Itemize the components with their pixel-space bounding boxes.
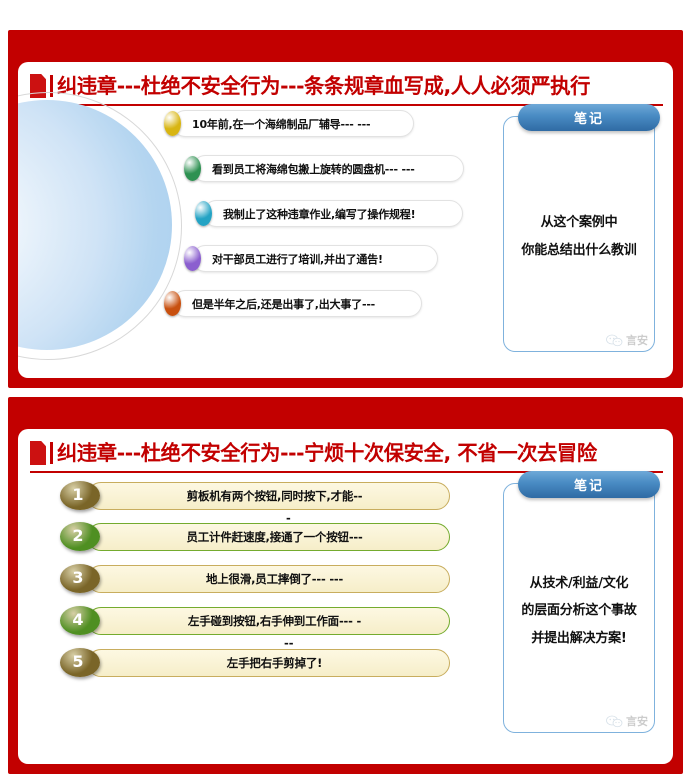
- step-number-badge: 3: [60, 564, 100, 593]
- list-item-label: 对干部员工进行了培训,并出了通告!: [212, 251, 383, 267]
- list-item[interactable]: 5 左手把右手剪掉了!: [60, 648, 450, 677]
- slide-1-body: 10年前,在一个海绵制品厂辅导--- --- 看到员工将海绵包搬上旋转的圆盘机-…: [18, 106, 673, 378]
- slide-1-title: 纠违章---杜绝不安全行为---条条规章血写成,人人必须严执行: [57, 76, 657, 97]
- step-number-badge: 2: [60, 522, 100, 551]
- slide-1-content-card: 纠违章---杜绝不安全行为---条条规章血写成,人人必须严执行 10年前,在一个…: [18, 62, 673, 378]
- wechat-icon: [606, 334, 623, 347]
- step-bar: 左手碰到按钮,右手伸到工作面--- -: [87, 607, 450, 635]
- step-bar: 左手把右手剪掉了!: [87, 649, 450, 677]
- list-item-label: 我制止了这种违章作业,编写了操作规程!: [223, 206, 415, 222]
- bullet-pill: 看到员工将海绵包搬上旋转的圆盘机--- ---: [192, 155, 464, 182]
- step-bar: 员工计件赶速度,接通了一个按钮---: [87, 523, 450, 551]
- notes-line: 你能总结出什么教训: [521, 244, 636, 258]
- notes-panel-header: 笔记: [518, 104, 660, 131]
- notes-line: 的层面分析这个事故: [521, 604, 636, 618]
- notes-panel: 笔记 从这个案例中 你能总结出什么教训: [503, 116, 655, 352]
- step-number-label: 1: [72, 485, 83, 504]
- step-number-label: 5: [72, 652, 83, 671]
- list-item[interactable]: 1 剪板机有两个按钮,同时按下,才能--: [60, 481, 450, 510]
- list-item[interactable]: 4 左手碰到按钮,右手伸到工作面--- -: [60, 606, 450, 635]
- notes-panel-body: 从技术/利益/文化 的层面分析这个事故 并提出解决方案!: [510, 512, 648, 710]
- list-item-label: 员工计件赶速度,接通了一个按钮---: [186, 529, 362, 545]
- notes-line: 并提出解决方案!: [531, 632, 626, 646]
- bullet-pill: 对干部员工进行了培训,并出了通告!: [192, 245, 438, 272]
- slide-1-title-row: 纠违章---杜绝不安全行为---条条规章血写成,人人必须严执行: [30, 68, 663, 106]
- notes-panel-body: 从这个案例中 你能总结出什么教训: [510, 145, 648, 329]
- notes-line: 从这个案例中: [541, 216, 618, 230]
- list-item-label: 但是半年之后,还是出事了,出大事了---: [192, 296, 375, 312]
- slide-2-body: 1 剪板机有两个按钮,同时按下,才能-- - 2 员工计件赶速度,接通了一个按钮…: [18, 473, 673, 764]
- list-item-label: 看到员工将海绵包搬上旋转的圆盘机--- ---: [212, 161, 415, 177]
- list-item-label: 左手碰到按钮,右手伸到工作面--- -: [188, 613, 361, 629]
- bullet-pill: 但是半年之后,还是出事了,出大事了---: [172, 290, 422, 317]
- list-item[interactable]: 3 地上很滑,员工摔倒了--- ---: [60, 564, 450, 593]
- list-item-label: 地上很滑,员工摔倒了--- ---: [206, 571, 343, 587]
- step-number-label: 4: [72, 610, 83, 629]
- bullet-pill: 10年前,在一个海绵制品厂辅导--- ---: [172, 110, 414, 137]
- slide-2-title-row: 纠违章---杜绝不安全行为---宁烦十次保安全, 不省一次去冒险: [30, 435, 663, 473]
- step-number-badge: 5: [60, 648, 100, 677]
- watermark-label: 言安: [626, 332, 648, 348]
- list-item[interactable]: 10年前,在一个海绵制品厂辅导--- ---: [164, 110, 414, 137]
- watermark-label: 言安: [626, 713, 648, 729]
- notes-panel: 笔记 从技术/利益/文化 的层面分析这个事故 并提出解决方案!: [503, 483, 655, 733]
- notes-panel-header: 笔记: [518, 471, 660, 498]
- step-number-label: 3: [72, 568, 83, 587]
- slide-1: 纠违章---杜绝不安全行为---条条规章血写成,人人必须严执行 10年前,在一个…: [8, 30, 683, 388]
- list-item[interactable]: 但是半年之后,还是出事了,出大事了---: [164, 290, 422, 317]
- step-number-badge: 1: [60, 481, 100, 510]
- title-divider-bar: [50, 442, 53, 464]
- notes-header-label: 笔记: [574, 475, 604, 494]
- slide-2-content-card: 纠违章---杜绝不安全行为---宁烦十次保安全, 不省一次去冒险 1 剪板机有两…: [18, 429, 673, 764]
- list-item[interactable]: 2 员工计件赶速度,接通了一个按钮---: [60, 522, 450, 551]
- bullet-marker-icon: [184, 156, 201, 181]
- slide-2: 纠违章---杜绝不安全行为---宁烦十次保安全, 不省一次去冒险 1 剪板机有两…: [8, 397, 683, 774]
- bullet-pill: 我制止了这种违章作业,编写了操作规程!: [203, 200, 463, 227]
- bullet-marker-icon: [184, 246, 201, 271]
- step-bar: 地上很滑,员工摔倒了--- ---: [87, 565, 450, 593]
- step-number-label: 2: [72, 526, 83, 545]
- notes-header-label: 笔记: [574, 108, 604, 127]
- list-item[interactable]: 对干部员工进行了培训,并出了通告!: [184, 245, 438, 272]
- page-flag-icon: [30, 441, 46, 465]
- step-number-badge: 4: [60, 606, 100, 635]
- step-bar: 剪板机有两个按钮,同时按下,才能--: [87, 482, 450, 510]
- list-item-label: 剪板机有两个按钮,同时按下,才能--: [187, 488, 363, 504]
- slide-2-title: 纠违章---杜绝不安全行为---宁烦十次保安全, 不省一次去冒险: [57, 443, 657, 464]
- wechat-icon: [606, 715, 623, 728]
- bullet-marker-icon: [164, 111, 181, 136]
- bullet-marker-icon: [164, 291, 181, 316]
- list-item[interactable]: 看到员工将海绵包搬上旋转的圆盘机--- ---: [184, 155, 464, 182]
- wechat-watermark: 言安: [606, 332, 648, 348]
- notes-line: 从技术/利益/文化: [530, 577, 629, 591]
- list-item-label: 左手把右手剪掉了!: [227, 655, 322, 671]
- slide-deck-page: 纠违章---杜绝不安全行为---条条规章血写成,人人必须严执行 10年前,在一个…: [0, 0, 691, 782]
- wechat-watermark: 言安: [606, 713, 648, 729]
- list-item[interactable]: 我制止了这种违章作业,编写了操作规程!: [195, 200, 463, 227]
- bullet-marker-icon: [195, 201, 212, 226]
- list-item-label: 10年前,在一个海绵制品厂辅导--- ---: [192, 116, 370, 132]
